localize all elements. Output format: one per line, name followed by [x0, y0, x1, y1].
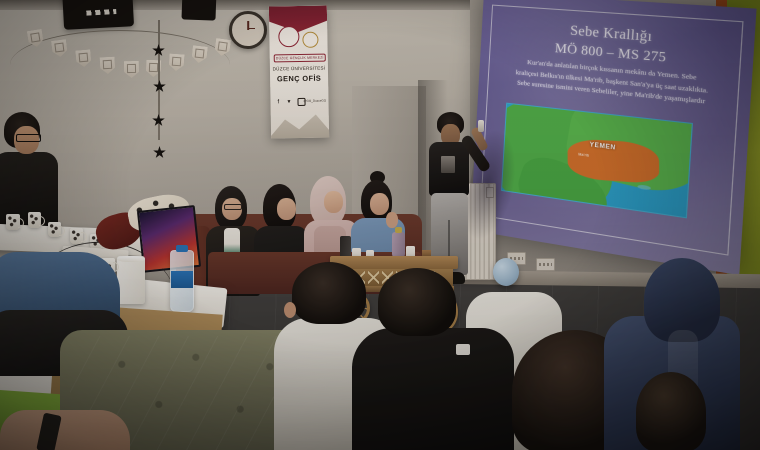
banner-university: DÜZCE ÜNİVERSİTESİ [270, 65, 328, 71]
bottle-cap [176, 245, 188, 252]
bunting-garland [10, 14, 230, 84]
torso [352, 328, 514, 450]
glasses-icon [16, 134, 41, 142]
banner-handle: @GO_DuzceGO [303, 99, 326, 103]
mug [70, 228, 83, 244]
presenter-remote [478, 120, 484, 132]
facebook-icon: f [277, 99, 284, 106]
presentation-room-photo: DÜZCE GENÇLİK MERKEZİ DÜZCE ÜNİVERSİTESİ… [0, 0, 760, 450]
glasses-icon [224, 204, 242, 210]
paper-towel-roll [117, 256, 145, 304]
hair [636, 372, 706, 450]
banner-social-row: f ▾ [277, 98, 305, 106]
water-bottle [170, 250, 194, 312]
rollup-banner: DÜZCE GENÇLİK MERKEZİ DÜZCE ÜNİVERSİTESİ… [269, 6, 329, 139]
face [277, 198, 296, 220]
beverage-pitcher [392, 232, 405, 258]
collar-tag [456, 344, 470, 355]
attendee-head-right [636, 372, 706, 450]
banner-office: GENÇ OFİS [270, 73, 328, 83]
banner-header-band [269, 6, 327, 33]
mug [48, 222, 61, 237]
banner-logo-secondary-icon [302, 32, 318, 48]
bottle-label [171, 271, 193, 288]
twitter-icon: ▾ [287, 99, 294, 106]
banner-logo-primary-icon [278, 26, 299, 47]
hair [378, 268, 456, 336]
hair [292, 262, 366, 324]
bunting-flag [100, 57, 116, 75]
ear [284, 302, 296, 318]
banner-tagline: DÜZCE GENÇLİK MERKEZİ [274, 54, 326, 63]
mug [28, 212, 41, 228]
hand [386, 212, 398, 228]
tshirt-graphic [441, 156, 455, 173]
bunting-flag [124, 61, 139, 78]
face [324, 191, 343, 213]
bunting-flag [168, 53, 184, 71]
mug [6, 214, 20, 230]
foreground-arm [0, 402, 130, 450]
wall-clock-icon [229, 11, 267, 49]
arm [0, 410, 130, 450]
wall-socket[interactable] [536, 258, 555, 271]
face [370, 193, 389, 215]
banner-mountain-graphic [269, 111, 329, 138]
attendee-black-hoodie [360, 268, 500, 450]
